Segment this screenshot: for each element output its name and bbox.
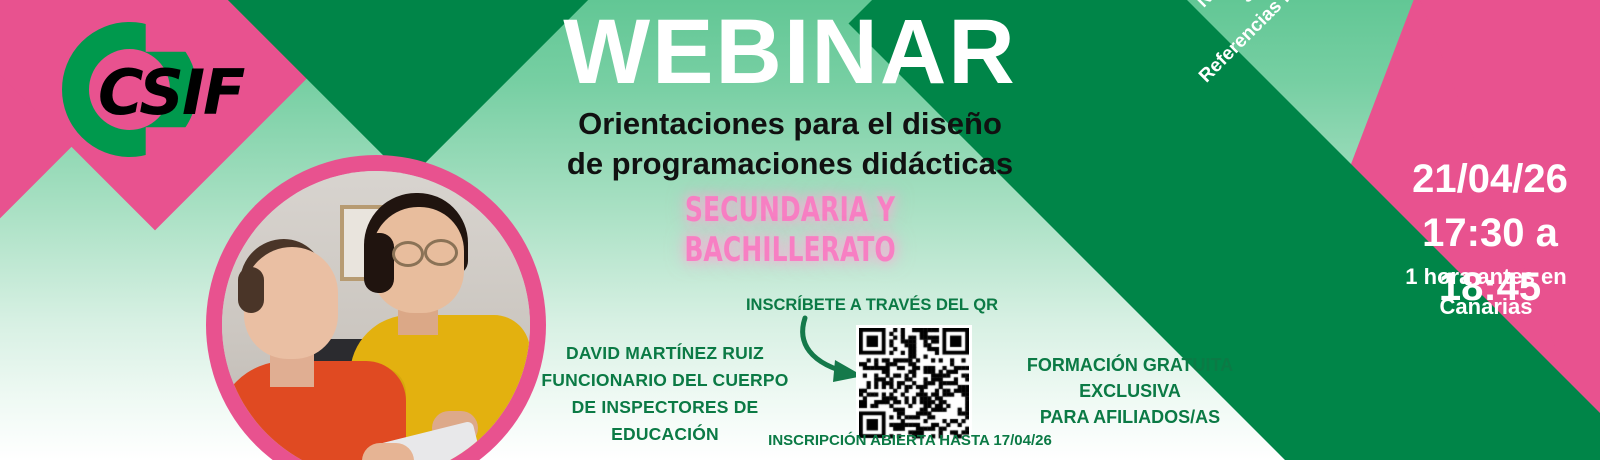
promo-note: FORMACIÓN GRATUITA EXCLUSIVA PARA AFILIA… (985, 352, 1275, 430)
canarias-note-line2: Canarias (1378, 292, 1594, 322)
promo-line1: FORMACIÓN GRATUITA EXCLUSIVA (985, 352, 1275, 404)
webinar-banner: CSIF WEBINA (0, 0, 1600, 460)
promo-line2: PARA AFILIADOS/AS (985, 404, 1275, 430)
registration-deadline: INSCRIPCIÓN ABIERTA HASTA 17/04/26 (700, 432, 1120, 449)
education-level-badge: SECUNDARIA Y BACHILLERATO (585, 190, 995, 270)
event-date: 21/04/26 (1380, 152, 1600, 206)
csif-logo-text: CSIF (98, 62, 243, 124)
speaker-role-line1: FUNCIONARIO DEL CUERPO (530, 367, 800, 394)
page-subtitle-line1: Orientaciones para el diseño (540, 104, 1040, 144)
csif-logo: CSIF (62, 22, 242, 162)
page-title: WEBINAR (540, 4, 1040, 101)
speaker-name: DAVID MARTÍNEZ RUIZ (530, 340, 800, 367)
registration-qr-code[interactable] (856, 325, 972, 443)
page-subtitle: Orientaciones para el diseño de programa… (540, 104, 1040, 183)
canarias-note: 1 hora antes en Canarias (1378, 262, 1594, 321)
canarias-note-line1: 1 hora antes en (1378, 262, 1594, 292)
speaker-photo-ring (206, 155, 546, 460)
page-subtitle-line2: de programaciones didácticas (540, 144, 1040, 184)
photo-two-women-tablet (222, 171, 530, 460)
